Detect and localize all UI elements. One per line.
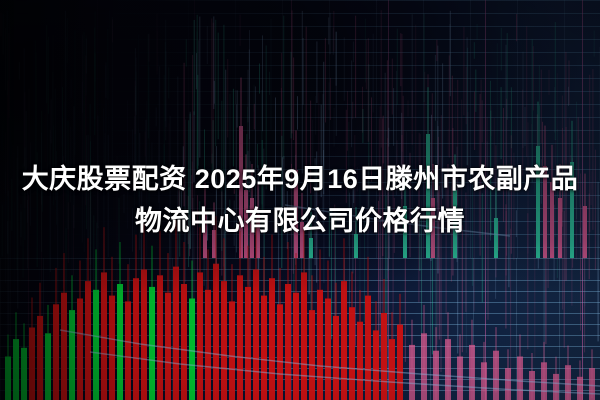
banner-headline: 大庆股票配资 2025年9月16日滕州市农副产品 物流中心有限公司价格行情 <box>0 0 600 400</box>
title-line-2: 物流中心有限公司价格行情 <box>135 200 465 242</box>
title-line-1: 大庆股票配资 2025年9月16日滕州市农副产品 <box>22 158 579 200</box>
stock-news-banner: 大庆股票配资 2025年9月16日滕州市农副产品 物流中心有限公司价格行情 <box>0 0 600 400</box>
